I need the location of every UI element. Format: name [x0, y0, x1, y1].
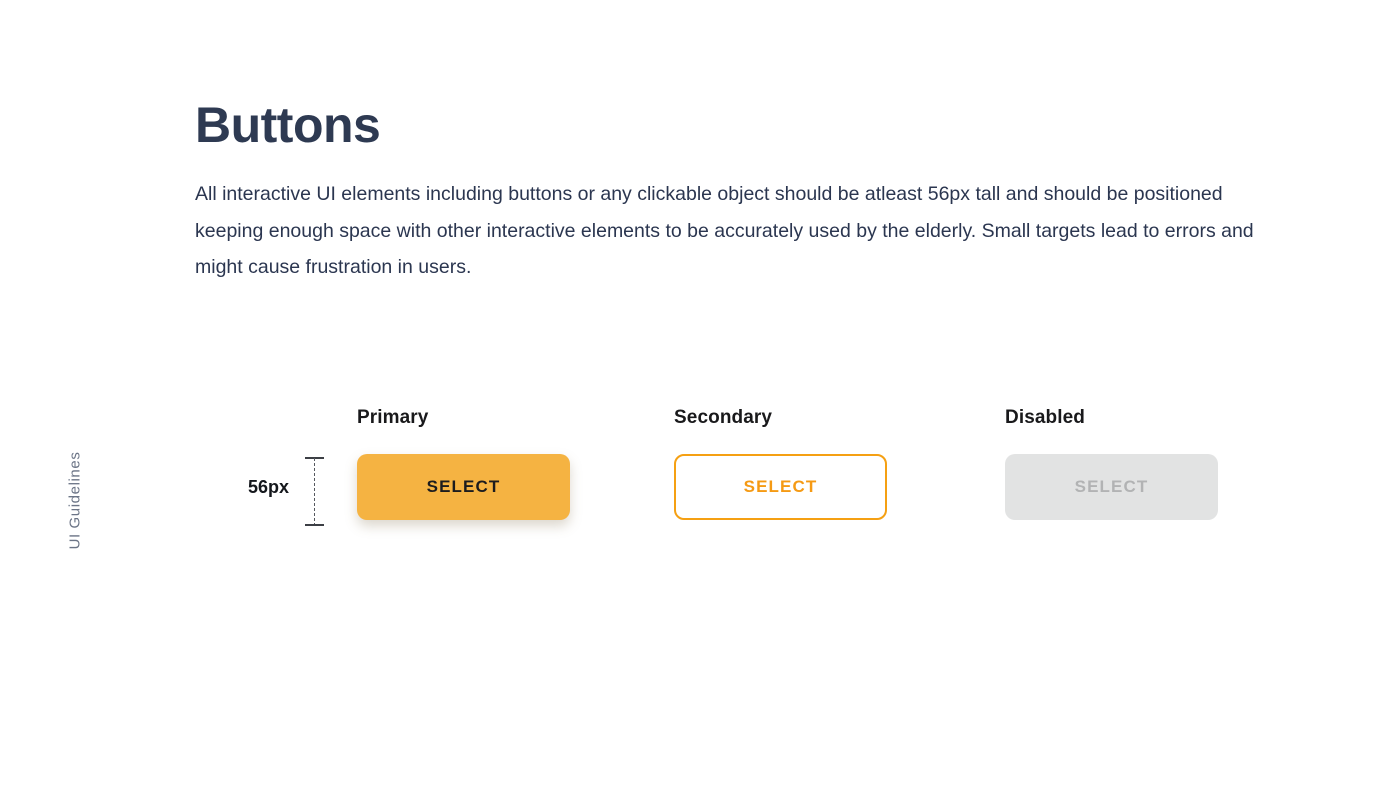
button-specimens: Primary SELECT Secondary SELECT Disabled… [357, 407, 1257, 532]
button-column-disabled: Disabled SELECT [1005, 407, 1218, 520]
description-text: All interactive UI elements including bu… [195, 176, 1280, 286]
page-title: Buttons [195, 98, 380, 153]
select-button-primary[interactable]: SELECT [357, 454, 570, 520]
button-caption-disabled: Disabled [1005, 407, 1218, 429]
slide-canvas: UI Guidelines Buttons All interactive UI… [0, 0, 1400, 788]
button-caption-secondary: Secondary [674, 407, 887, 429]
height-measurement: 56px [248, 455, 328, 530]
button-column-primary: Primary SELECT [357, 407, 570, 520]
side-label: UI Guidelines [60, 430, 90, 570]
measurement-dashed-line [314, 458, 315, 526]
measurement-value: 56px [248, 477, 289, 498]
select-button-secondary[interactable]: SELECT [674, 454, 887, 520]
measurement-cap-bottom [305, 524, 324, 526]
side-label-text: UI Guidelines [67, 451, 84, 549]
button-column-secondary: Secondary SELECT [674, 407, 887, 520]
select-button-disabled: SELECT [1005, 454, 1218, 520]
button-caption-primary: Primary [357, 407, 570, 429]
